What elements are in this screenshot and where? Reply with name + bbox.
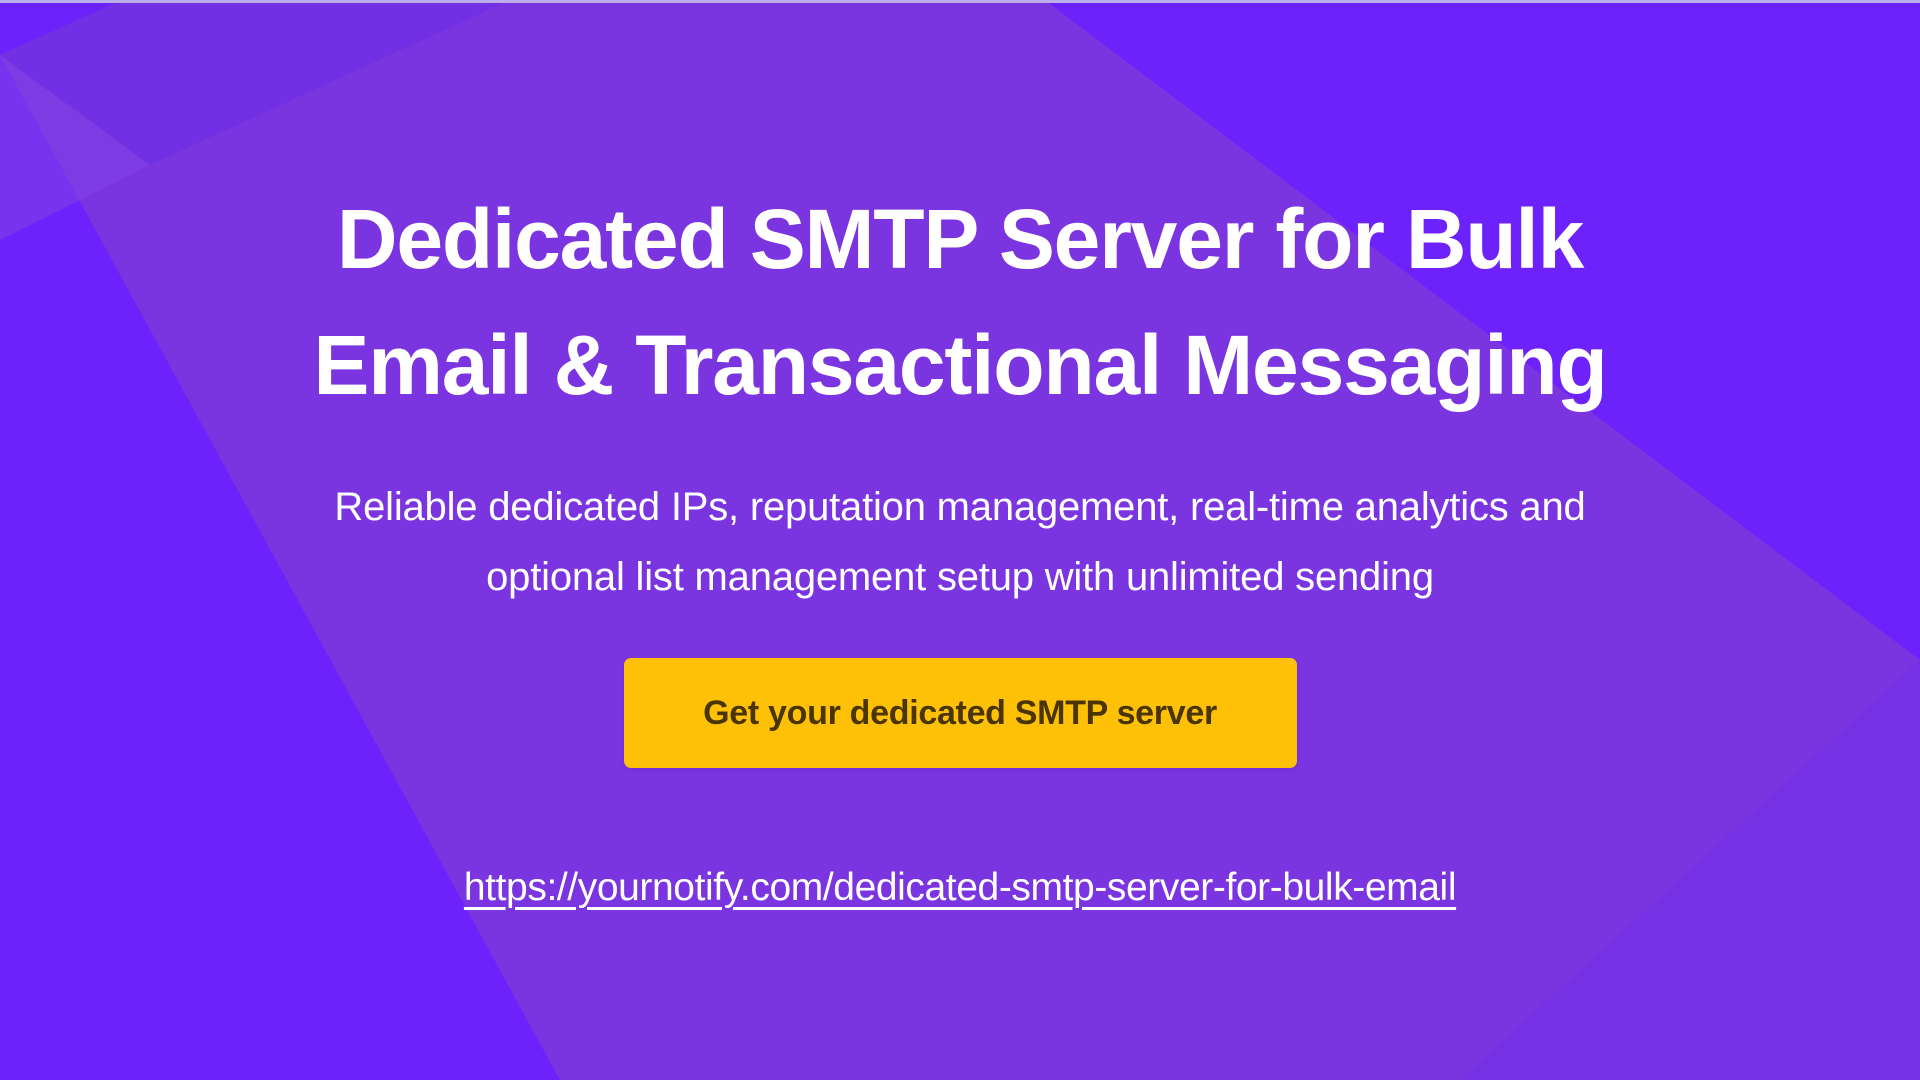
headline-line-1: Dedicated SMTP Server for Bulk (140, 176, 1780, 302)
cta-container: Get your dedicated SMTP server (0, 658, 1920, 768)
get-dedicated-smtp-server-button[interactable]: Get your dedicated SMTP server (624, 658, 1297, 768)
subtitle: Reliable dedicated IPs, reputation manag… (180, 472, 1740, 612)
link-container: https://yournotify.com/dedicated-smtp-se… (0, 866, 1920, 910)
hero-banner: Dedicated SMTP Server for Bulk Email & T… (0, 0, 1920, 1080)
page-title: Dedicated SMTP Server for Bulk Email & T… (140, 176, 1780, 428)
headline-line-2: Email & Transactional Messaging (140, 302, 1780, 428)
subtitle-line-2: optional list management setup with unli… (180, 542, 1740, 612)
subtitle-line-1: Reliable dedicated IPs, reputation manag… (180, 472, 1740, 542)
page-url-link[interactable]: https://yournotify.com/dedicated-smtp-se… (464, 866, 1456, 909)
banner-content: Dedicated SMTP Server for Bulk Email & T… (0, 0, 1920, 1080)
top-edge-strip (0, 0, 1920, 3)
